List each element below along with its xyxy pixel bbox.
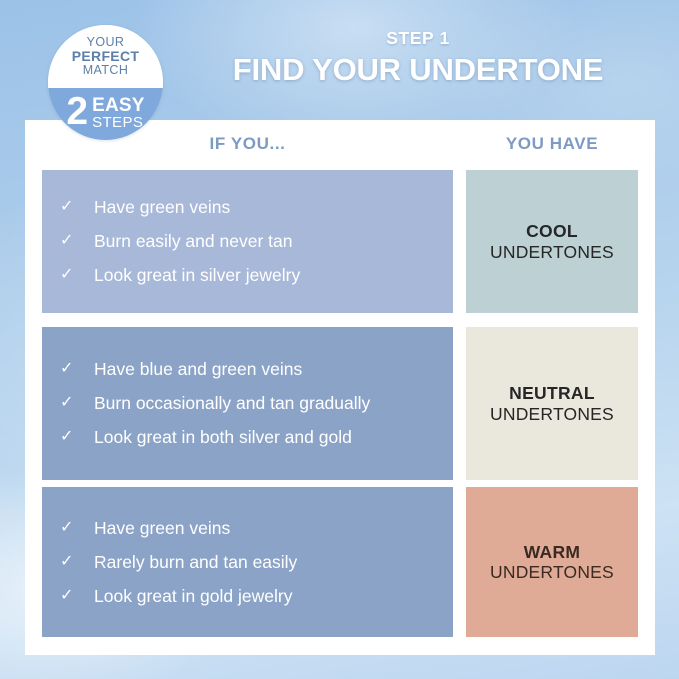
criteria-item: ✓Rarely burn and tan easily bbox=[60, 552, 439, 573]
check-icon: ✓ bbox=[60, 359, 94, 379]
page-header: STEP 1 FIND YOUR UNDERTONE bbox=[175, 28, 661, 88]
undertone-row: ✓Have blue and green veins✓Burn occasion… bbox=[42, 327, 638, 480]
criteria-item-label: Have green veins bbox=[94, 197, 439, 218]
undertone-name: WARM bbox=[524, 542, 581, 562]
criteria-item-label: Have green veins bbox=[94, 518, 439, 539]
undertone-swatch: NEUTRALUNDERTONES bbox=[466, 327, 638, 480]
criteria-panel: ✓Have green veins✓Burn easily and never … bbox=[42, 170, 453, 313]
check-icon: ✓ bbox=[60, 518, 94, 538]
undertone-swatch: WARMUNDERTONES bbox=[466, 487, 638, 637]
check-icon: ✓ bbox=[60, 265, 94, 285]
badge-easy-steps: EASY STEPS bbox=[92, 94, 145, 130]
page-title: FIND YOUR UNDERTONE bbox=[175, 52, 661, 88]
criteria-item-label: Burn occasionally and tan gradually bbox=[94, 393, 439, 414]
criteria-item-label: Look great in gold jewelry bbox=[94, 586, 439, 607]
criteria-panel: ✓Have green veins✓Rarely burn and tan ea… bbox=[42, 487, 453, 637]
badge-line-perfect: PERFECT bbox=[72, 49, 139, 64]
check-icon: ✓ bbox=[60, 427, 94, 447]
badge-step-number: 2 bbox=[66, 95, 88, 129]
check-icon: ✓ bbox=[60, 586, 94, 606]
criteria-item: ✓Have blue and green veins bbox=[60, 359, 439, 380]
criteria-item: ✓Have green veins bbox=[60, 197, 439, 218]
check-icon: ✓ bbox=[60, 552, 94, 572]
criteria-item: ✓Burn occasionally and tan gradually bbox=[60, 393, 439, 414]
undertone-sublabel: UNDERTONES bbox=[490, 404, 614, 424]
check-icon: ✓ bbox=[60, 393, 94, 413]
badge-top-section: YOUR PERFECT MATCH bbox=[48, 25, 163, 88]
criteria-item-label: Have blue and green veins bbox=[94, 359, 439, 380]
criteria-item: ✓Have green veins bbox=[60, 518, 439, 539]
criteria-item: ✓Look great in silver jewelry bbox=[60, 265, 439, 286]
criteria-panel: ✓Have blue and green veins✓Burn occasion… bbox=[42, 327, 453, 480]
criteria-item-label: Look great in both silver and gold bbox=[94, 427, 439, 448]
check-icon: ✓ bbox=[60, 231, 94, 251]
column-header-you-have: YOU HAVE bbox=[466, 134, 638, 154]
criteria-item: ✓Burn easily and never tan bbox=[60, 231, 439, 252]
badge-label-easy: EASY bbox=[92, 96, 145, 115]
undertone-name: NEUTRAL bbox=[509, 383, 595, 403]
criteria-item: ✓Look great in gold jewelry bbox=[60, 586, 439, 607]
step-label: STEP 1 bbox=[175, 28, 661, 49]
undertone-row: ✓Have green veins✓Burn easily and never … bbox=[42, 170, 638, 313]
check-icon: ✓ bbox=[60, 197, 94, 217]
criteria-item-label: Burn easily and never tan bbox=[94, 231, 439, 252]
undertone-swatch: COOLUNDERTONES bbox=[466, 170, 638, 313]
criteria-item: ✓Look great in both silver and gold bbox=[60, 427, 439, 448]
undertone-sublabel: UNDERTONES bbox=[490, 562, 614, 582]
undertone-row: ✓Have green veins✓Rarely burn and tan ea… bbox=[42, 487, 638, 637]
badge-bottom-section: 2 EASY STEPS bbox=[48, 88, 163, 140]
criteria-item-label: Look great in silver jewelry bbox=[94, 265, 439, 286]
undertone-sublabel: UNDERTONES bbox=[490, 242, 614, 262]
your-perfect-match-badge: YOUR PERFECT MATCH 2 EASY STEPS bbox=[48, 25, 163, 140]
badge-line-match: MATCH bbox=[83, 64, 129, 77]
undertone-name: COOL bbox=[526, 221, 578, 241]
badge-label-steps: STEPS bbox=[92, 115, 145, 130]
criteria-item-label: Rarely burn and tan easily bbox=[94, 552, 439, 573]
